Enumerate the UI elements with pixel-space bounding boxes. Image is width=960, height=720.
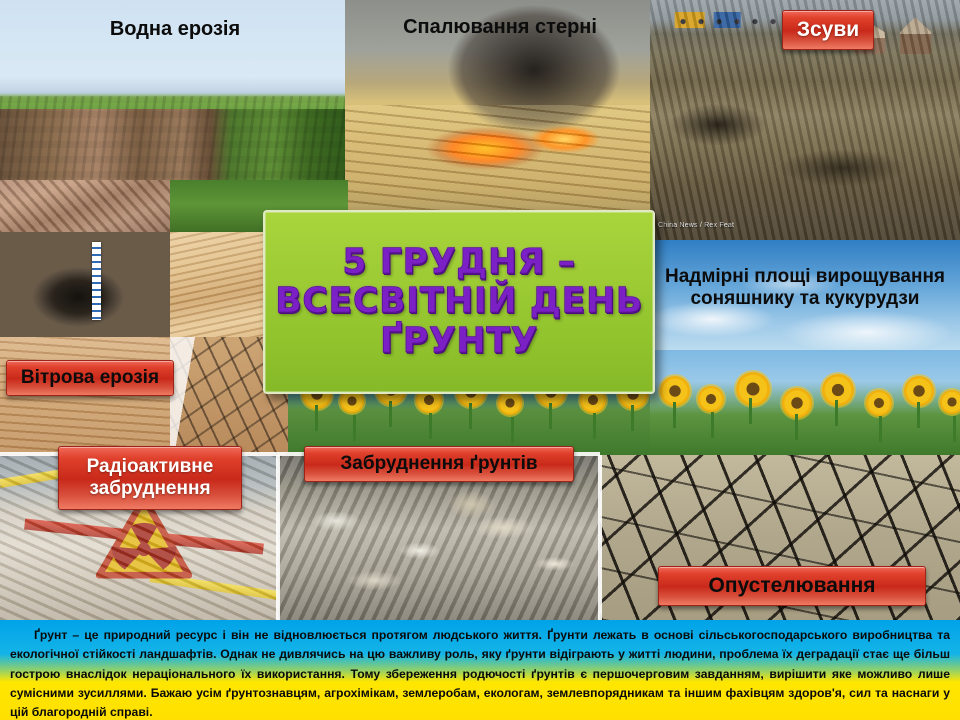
sunflower-cluster-right xyxy=(650,350,960,455)
title-panel: 5 ГРУДНЯ – ВСЕСВІТНІЙ ДЕНЬ ҐРУНТУ xyxy=(263,210,655,394)
poster-canvas: China News / Rex Feat xyxy=(0,0,960,720)
red-barrier xyxy=(24,518,264,554)
label-radioactive-contamination: Радіоактивне забруднення xyxy=(58,446,242,510)
footer-paragraph: Ґрунт – це природний ресурс і він не від… xyxy=(10,626,950,720)
label-excess-sunflower-corn: Надмірні площі вирощування соняшнику та … xyxy=(648,246,960,330)
photo-sandy-field xyxy=(0,337,170,455)
label-desertification: Опустелювання xyxy=(658,566,926,606)
label-water-erosion: Водна ерозія xyxy=(60,14,290,44)
yellow-barrier-right xyxy=(149,573,278,601)
landslide-house-right xyxy=(900,14,960,54)
measuring-ruler xyxy=(92,242,101,320)
label-wind-erosion: Вітрова ерозія xyxy=(6,360,174,396)
photo-soil-pit xyxy=(0,232,170,337)
photo-watermark: China News / Rex Feat xyxy=(658,222,734,229)
footer-banner: Ґрунт – це природний ресурс і він не від… xyxy=(0,620,960,720)
label-soil-pollution: Забруднення ґрунтів xyxy=(304,446,574,482)
photo-sunflowers-right xyxy=(650,350,960,455)
photo-seam-vertical-left xyxy=(276,455,280,620)
page-title: 5 ГРУДНЯ – ВСЕСВІТНІЙ ДЕНЬ ҐРУНТУ xyxy=(265,243,653,361)
photo-seam-vertical-right xyxy=(598,455,602,620)
label-stubble-burning: Спалювання стерні xyxy=(370,12,630,42)
photo-rocky-slope xyxy=(0,180,170,234)
label-landslides: Зсуви xyxy=(782,10,874,50)
